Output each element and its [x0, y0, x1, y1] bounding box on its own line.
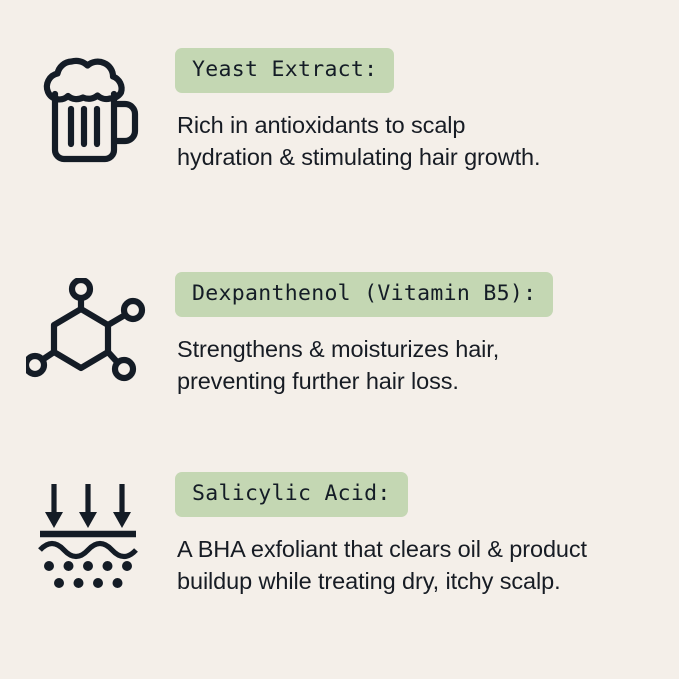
icon-cell-salicylic-acid	[0, 472, 175, 590]
molecule-icon	[26, 278, 150, 382]
description-line: Strengthens & moisturizes hair,	[177, 336, 499, 362]
down-arrows	[45, 484, 131, 528]
exfoliation-scalp-icon	[38, 478, 138, 590]
text-cell-salicylic-acid: Salicylic Acid: A BHA exfoliant that cle…	[175, 472, 679, 597]
description-line: A BHA exfoliant that clears oil & produc…	[177, 536, 587, 562]
text-cell-yeast-extract: Yeast Extract: Rich in antioxidants to s…	[175, 48, 679, 173]
icon-cell-dexpanthenol	[0, 272, 175, 382]
description-line: hydration & stimulating hair growth.	[177, 144, 540, 170]
ingredient-description-dexpanthenol: Strengthens & moisturizes hair, preventi…	[177, 333, 665, 398]
description-line: Rich in antioxidants to scalp	[177, 112, 465, 138]
text-cell-dexpanthenol: Dexpanthenol (Vitamin B5): Strengthens &…	[175, 272, 679, 397]
ingredient-heading-dexpanthenol: Dexpanthenol (Vitamin B5):	[175, 272, 553, 317]
description-line: preventing further hair loss.	[177, 368, 459, 394]
ingredient-description-salicylic-acid: A BHA exfoliant that clears oil & produc…	[177, 533, 665, 598]
ingredient-row-salicylic-acid: Salicylic Acid: A BHA exfoliant that cle…	[0, 472, 679, 597]
icon-cell-yeast-extract	[0, 48, 175, 166]
ingredient-row-yeast-extract: Yeast Extract: Rich in antioxidants to s…	[0, 48, 679, 173]
ingredient-benefits-infographic: Yeast Extract: Rich in antioxidants to s…	[0, 0, 679, 679]
beer-mug-icon	[35, 54, 141, 166]
ingredient-row-dexpanthenol: Dexpanthenol (Vitamin B5): Strengthens &…	[0, 272, 679, 397]
ingredient-heading-yeast-extract: Yeast Extract:	[175, 48, 394, 93]
ingredient-description-yeast-extract: Rich in antioxidants to scalp hydration …	[177, 109, 665, 174]
particle-dots-row-1	[44, 561, 132, 571]
description-line: buildup while treating dry, itchy scalp.	[177, 568, 561, 594]
ingredient-heading-salicylic-acid: Salicylic Acid:	[175, 472, 408, 517]
particle-dots-row-2	[54, 578, 123, 588]
